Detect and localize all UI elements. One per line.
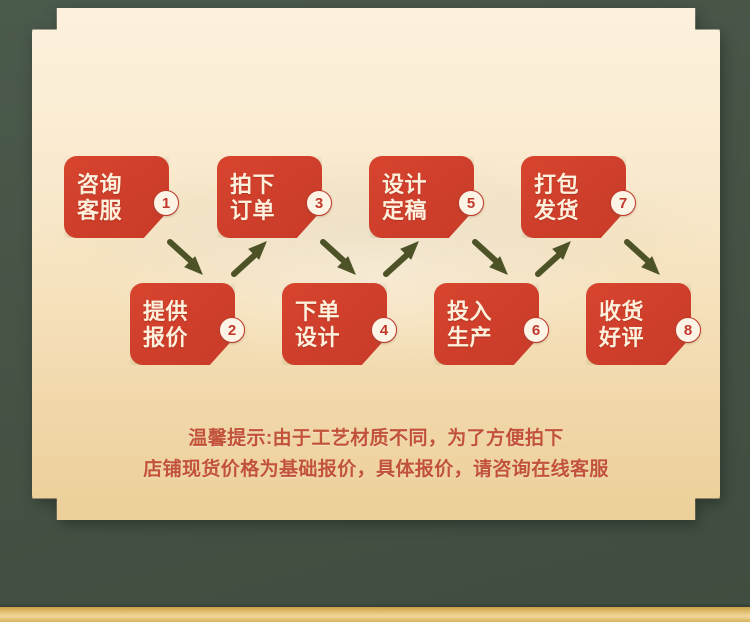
flow-step-7-line2: 发货 xyxy=(534,198,579,223)
flow-step-3-line2: 订单 xyxy=(230,198,275,223)
content-card: 咨询 客服 1 拍下 订单 3 设计 定稿 5 打包 发货 7 xyxy=(32,8,720,520)
flow-step-1-line1: 咨询 xyxy=(77,172,122,197)
flow-step-4-line2: 设计 xyxy=(295,325,340,350)
arrow-7-down-right xyxy=(621,236,667,282)
flow-step-3-line1: 拍下 xyxy=(230,172,275,197)
arrow-3-down-right xyxy=(317,236,363,282)
flow-step-2-line1: 提供 xyxy=(143,299,188,324)
flow-step-5-line1: 设计 xyxy=(382,172,427,197)
flow-step-6-badge: 6 xyxy=(523,317,549,343)
flow-step-1-line2: 客服 xyxy=(77,198,122,223)
flow-step-6-line2: 生产 xyxy=(447,325,492,350)
page-root: 咨询 客服 1 拍下 订单 3 设计 定稿 5 打包 发货 7 xyxy=(0,0,750,622)
tip-block: 温馨提示:由于工艺材质不同，为了方便拍下 店铺现货价格为基础报价，具体报价，请咨… xyxy=(32,423,720,485)
flow-step-3-badge: 3 xyxy=(306,190,332,216)
flow-step-2-line2: 报价 xyxy=(143,325,188,350)
flow-step-2-badge: 2 xyxy=(219,317,245,343)
arrow-5-down-right xyxy=(469,236,515,282)
bottom-gold-bar xyxy=(0,607,750,622)
flow-step-5-badge: 5 xyxy=(458,190,484,216)
flow-step-7-badge: 7 xyxy=(610,190,636,216)
arrow-6-up-right xyxy=(532,236,578,282)
flow-step-7-line1: 打包 xyxy=(534,172,579,197)
flow-step-5-line2: 定稿 xyxy=(382,198,427,223)
flow-step-8-line2: 好评 xyxy=(599,325,644,350)
flow-step-8-line1: 收货 xyxy=(599,299,644,324)
arrow-1-down-right xyxy=(164,236,210,282)
arrow-2-up-right xyxy=(228,236,274,282)
tip-line-2: 店铺现货价格为基础报价，具体报价，请咨询在线客服 xyxy=(32,454,720,485)
flow-step-4-badge: 4 xyxy=(371,317,397,343)
arrow-4-up-right xyxy=(380,236,426,282)
flow-step-4-line1: 下单 xyxy=(295,299,340,324)
tip-line-1: 温馨提示:由于工艺材质不同，为了方便拍下 xyxy=(32,423,720,454)
card-surface: 咨询 客服 1 拍下 订单 3 设计 定稿 5 打包 发货 7 xyxy=(32,8,720,520)
flow-step-8-badge: 8 xyxy=(675,317,701,343)
flow-step-1-badge: 1 xyxy=(153,190,179,216)
flow-step-6-line1: 投入 xyxy=(447,299,492,324)
